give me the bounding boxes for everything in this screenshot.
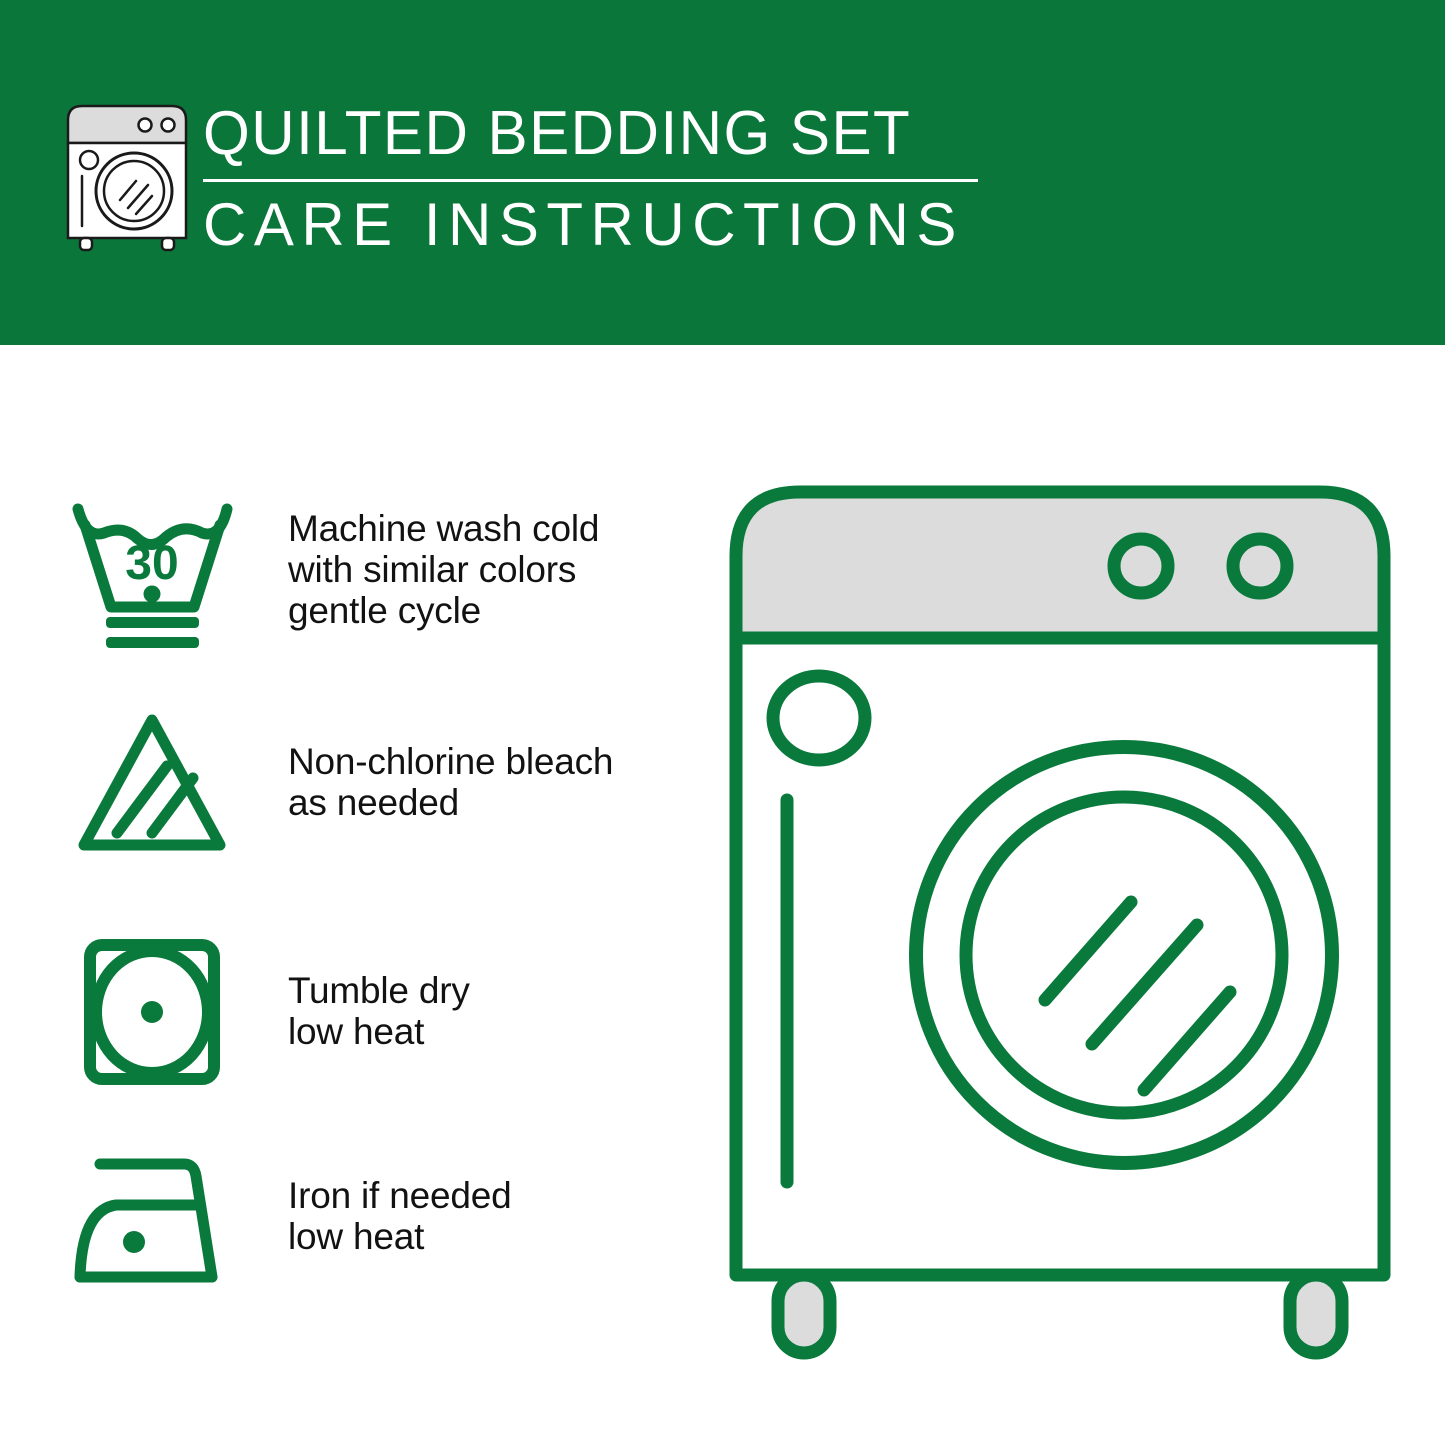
care-row-machine-wash: 30 Machine wash cold with similar colors… bbox=[0, 495, 700, 665]
care-line: as needed bbox=[288, 782, 688, 823]
leg-left bbox=[778, 1275, 830, 1353]
care-instruction-list: 30 Machine wash cold with similar colors… bbox=[0, 345, 700, 1445]
washing-machine-illustration bbox=[720, 470, 1400, 1360]
care-text-iron: Iron if needed low heat bbox=[288, 1175, 688, 1257]
care-line: with similar colors bbox=[288, 549, 688, 590]
care-text-tumble-dry: Tumble dry low heat bbox=[288, 970, 688, 1052]
care-row-iron: Iron if needed low heat bbox=[0, 1145, 700, 1315]
knob-right bbox=[1233, 539, 1287, 593]
non-chlorine-bleach-triangle-icon bbox=[72, 708, 237, 868]
page-subtitle: CARE INSTRUCTIONS bbox=[203, 193, 993, 257]
leg-right bbox=[1290, 1275, 1342, 1353]
care-line: low heat bbox=[288, 1011, 688, 1052]
washing-machine-logo-icon bbox=[62, 98, 192, 253]
tumble-dry-heat-dot bbox=[141, 1001, 163, 1023]
care-line: gentle cycle bbox=[288, 590, 688, 631]
tumble-dry-low-icon bbox=[78, 935, 243, 1095]
care-text-bleach: Non-chlorine bleach as needed bbox=[288, 741, 688, 823]
iron-heat-dot bbox=[123, 1231, 145, 1253]
knob-left bbox=[1114, 539, 1168, 593]
iron-low-heat-icon bbox=[72, 1145, 237, 1305]
wash-tub-30-gentle-icon: 30 bbox=[70, 495, 235, 655]
care-line: Non-chlorine bleach bbox=[288, 741, 688, 782]
care-line: Iron if needed bbox=[288, 1175, 688, 1216]
care-line: Tumble dry bbox=[288, 970, 688, 1011]
wash-temperature-label: 30 bbox=[125, 537, 178, 590]
care-instructions-infographic: QUILTED BEDDING SET CARE INSTRUCTIONS bbox=[0, 0, 1445, 1445]
page-title: QUILTED BEDDING SET bbox=[203, 101, 969, 167]
care-text-machine-wash: Machine wash cold with similar colors ge… bbox=[288, 508, 688, 631]
header-text-block: QUILTED BEDDING SET CARE INSTRUCTIONS bbox=[203, 101, 993, 257]
care-row-tumble-dry: Tumble dry low heat bbox=[0, 935, 700, 1105]
care-row-bleach: Non-chlorine bleach as needed bbox=[0, 708, 700, 878]
care-line: low heat bbox=[288, 1216, 688, 1257]
header-banner: QUILTED BEDDING SET CARE INSTRUCTIONS bbox=[0, 0, 1445, 345]
care-line: Machine wash cold bbox=[288, 508, 688, 549]
title-divider bbox=[203, 179, 978, 182]
